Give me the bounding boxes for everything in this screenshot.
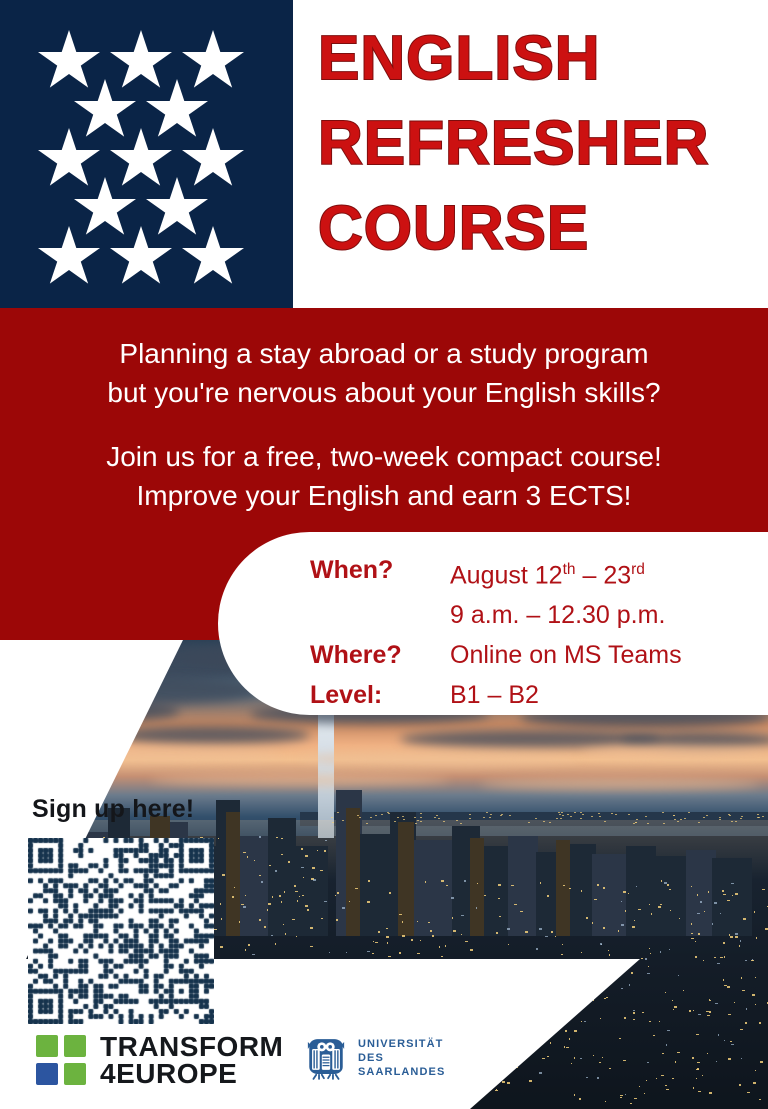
window-light: [604, 998, 606, 999]
owl-icon: [305, 1035, 347, 1081]
flag-star: [182, 226, 244, 288]
shore-light: [443, 821, 445, 822]
window-light: [717, 963, 720, 964]
window-light: [608, 950, 609, 951]
shore-light: [394, 821, 396, 822]
window-light: [723, 942, 725, 944]
saarland-university-logo: UNIVERSITÄT DES SAARLANDES: [305, 1035, 445, 1081]
window-light: [464, 880, 466, 882]
window-light: [670, 910, 671, 911]
window-light: [634, 920, 635, 921]
shore-light: [414, 817, 416, 818]
window-light: [697, 894, 698, 896]
window-light: [698, 1014, 701, 1015]
shore-light: [331, 817, 333, 818]
window-light: [269, 865, 271, 866]
shore-light: [647, 823, 649, 824]
saarland-line-1: UNIVERSITÄT: [358, 1037, 445, 1051]
window-light: [378, 931, 380, 933]
banner-line-2: but you're nervous about your English sk…: [0, 373, 768, 412]
window-light: [484, 895, 486, 896]
shore-light: [706, 815, 708, 816]
flag-star: [38, 226, 100, 288]
window-light: [735, 893, 738, 895]
window-light: [632, 926, 635, 928]
window-light: [476, 907, 477, 909]
signup-heading: Sign up here!: [32, 795, 214, 824]
window-light: [698, 933, 700, 935]
window-light: [609, 954, 610, 956]
window-light: [514, 904, 517, 905]
shore-light: [381, 814, 383, 815]
window-light: [665, 992, 666, 993]
window-light: [254, 860, 255, 861]
window-light: [645, 958, 647, 960]
window-light: [285, 933, 286, 935]
window-light: [649, 904, 650, 905]
shore-light: [509, 815, 511, 816]
window-light: [281, 838, 283, 839]
window-light: [425, 881, 426, 883]
cloud-light: [300, 752, 580, 766]
window-light: [722, 890, 724, 892]
window-light: [220, 903, 221, 905]
shore-light: [420, 813, 422, 814]
window-light: [661, 880, 662, 882]
window-light: [499, 916, 501, 917]
shore-light: [560, 818, 562, 819]
poster-title: ENGLISH REFRESHER COURSE: [318, 16, 758, 271]
window-light: [402, 921, 403, 923]
window-light: [563, 885, 565, 886]
flag-star: [38, 30, 100, 92]
window-light: [691, 886, 692, 887]
window-light: [741, 977, 742, 979]
shore-light: [375, 815, 377, 816]
window-light: [562, 944, 563, 945]
window-light: [569, 888, 571, 889]
shore-light: [645, 816, 647, 817]
logo-square-blue: [36, 1063, 58, 1085]
window-light: [720, 913, 721, 914]
window-light: [669, 889, 671, 890]
shore-light: [469, 818, 471, 819]
window-light: [536, 948, 538, 950]
window-light: [709, 1011, 711, 1013]
window-light: [754, 911, 755, 913]
window-light: [669, 949, 670, 950]
shore-light: [543, 821, 545, 822]
window-light: [451, 897, 454, 899]
shore-light: [719, 819, 721, 820]
shore-light: [703, 817, 705, 818]
window-light: [724, 956, 725, 958]
window-light: [664, 882, 667, 884]
window-light: [700, 901, 702, 903]
building: [236, 836, 270, 936]
window-light: [525, 931, 528, 933]
window-light: [672, 1000, 673, 1001]
window-light: [368, 880, 370, 882]
when-date-prefix: August 12: [450, 561, 563, 589]
window-light: [221, 918, 222, 920]
window-light: [555, 936, 556, 937]
window-light: [742, 990, 745, 991]
window-light: [594, 899, 597, 900]
shore-light: [680, 819, 682, 820]
window-light: [239, 921, 240, 923]
window-light: [678, 975, 679, 976]
window-light: [667, 884, 669, 886]
shore-light: [684, 818, 686, 819]
window-light: [704, 911, 705, 912]
shore-light: [561, 812, 563, 813]
shore-light: [337, 812, 339, 813]
window-light: [271, 935, 273, 936]
shore-light: [677, 821, 679, 822]
building: [652, 856, 686, 936]
logo-square-green-1: [36, 1035, 58, 1057]
shore-light: [719, 817, 721, 818]
shore-light: [567, 814, 569, 815]
window-light: [465, 941, 468, 942]
window-light: [745, 960, 747, 961]
window-light: [629, 984, 630, 986]
window-light: [707, 1015, 710, 1016]
window-light: [561, 954, 563, 955]
window-light: [299, 896, 300, 897]
window-light: [545, 936, 548, 937]
window-light: [420, 940, 421, 941]
shore-light: [397, 817, 399, 818]
flag-star: [182, 30, 244, 92]
window-light: [307, 909, 309, 911]
window-light: [660, 904, 662, 905]
window-light: [636, 886, 637, 887]
shore-light: [460, 823, 462, 824]
shore-light: [757, 814, 759, 815]
window-light: [715, 1003, 718, 1004]
window-light: [641, 958, 643, 959]
window-light: [337, 892, 339, 894]
shore-light: [615, 814, 617, 815]
shore-light: [741, 816, 743, 817]
shore-light: [549, 822, 551, 823]
window-light: [367, 901, 370, 903]
window-light: [367, 951, 370, 952]
banner-text-block: Planning a stay abroad or a study progra…: [0, 334, 768, 515]
window-light: [498, 884, 501, 886]
window-light: [520, 911, 523, 912]
title-line-1: ENGLISH: [318, 16, 758, 101]
flag-star: [110, 30, 172, 92]
shore-light: [599, 816, 601, 817]
qr-code-canvas[interactable]: [28, 838, 214, 1024]
window-light: [631, 972, 633, 974]
saarland-line-3: SAARLANDES: [358, 1065, 445, 1079]
window-light: [628, 893, 629, 894]
when-date-sup-1: th: [563, 561, 576, 578]
window-light: [600, 943, 602, 945]
window-light: [714, 902, 717, 904]
window-light: [746, 1008, 747, 1010]
window-light: [281, 901, 282, 903]
window-light: [232, 896, 234, 898]
window-light: [709, 999, 710, 1001]
window-light: [618, 930, 619, 932]
window-light: [375, 942, 378, 943]
flag-star: [110, 226, 172, 288]
flag-star: [146, 79, 208, 141]
signup-block: Sign up here!: [28, 795, 214, 1024]
window-light: [279, 895, 281, 897]
window-light: [439, 946, 440, 948]
window-light: [275, 943, 276, 945]
cloud-light: [150, 774, 450, 786]
window-light: [399, 914, 402, 915]
window-light: [735, 936, 738, 938]
window-light: [301, 867, 304, 868]
shore-light: [489, 817, 491, 818]
window-light: [496, 932, 498, 934]
window-light: [411, 939, 413, 941]
shore-light: [483, 817, 485, 818]
shore-light: [570, 816, 572, 817]
window-light: [603, 887, 605, 889]
when-date-mid: – 23: [576, 561, 632, 589]
shore-light: [403, 819, 405, 820]
window-light: [296, 936, 297, 937]
shore-light: [562, 815, 564, 816]
spacer-cell: [310, 595, 450, 635]
window-light: [301, 848, 303, 850]
shore-light: [628, 814, 630, 815]
window-light: [691, 933, 693, 934]
window-light: [329, 952, 330, 953]
shore-light: [635, 822, 637, 823]
window-light: [320, 870, 323, 871]
shore-light: [688, 812, 690, 813]
shore-light: [370, 817, 372, 818]
window-light: [324, 850, 326, 852]
window-light: [606, 997, 608, 998]
flag-star: [146, 177, 208, 239]
window-light: [710, 1000, 711, 1001]
lit-tower: [556, 840, 570, 936]
window-light: [683, 990, 684, 991]
window-light: [388, 956, 391, 957]
flag-star: [38, 128, 100, 190]
window-light: [276, 837, 278, 838]
flag-star: [110, 128, 172, 190]
transform4europe-wordmark: TRANSFORM 4EUROPE: [100, 1033, 283, 1087]
shore-light: [558, 812, 560, 813]
banner-spacer: [0, 412, 768, 437]
transform4europe-line-1: TRANSFORM: [100, 1033, 283, 1060]
banner-line-4: Improve your English and earn 3 ECTS!: [0, 476, 768, 515]
window-light: [288, 861, 290, 863]
saarland-wordmark: UNIVERSITÄT DES SAARLANDES: [358, 1037, 445, 1079]
window-light: [592, 922, 593, 924]
window-light: [245, 949, 246, 951]
window-light: [252, 954, 255, 955]
window-light: [261, 881, 263, 883]
shore-light: [490, 814, 492, 815]
window-light: [755, 1004, 756, 1005]
window-light: [305, 855, 308, 857]
shore-light: [434, 817, 436, 818]
window-light: [539, 928, 542, 930]
window-light: [305, 905, 308, 907]
lit-tower: [398, 822, 414, 936]
window-light: [241, 904, 244, 905]
window-light: [373, 941, 374, 942]
window-light: [621, 988, 623, 989]
shore-light: [357, 815, 359, 816]
shore-light: [674, 819, 676, 820]
window-light: [310, 927, 313, 929]
flag-star: [182, 128, 244, 190]
window-light: [346, 952, 347, 953]
window-light: [461, 915, 464, 916]
us-flag-star-field: [0, 0, 293, 308]
window-light: [720, 957, 723, 958]
window-light: [727, 986, 730, 988]
shore-light: [366, 823, 368, 824]
window-light: [732, 895, 733, 896]
logo-bar: TRANSFORM 4EUROPE: [0, 1019, 768, 1109]
shore-light: [574, 812, 576, 813]
shore-light: [415, 823, 417, 824]
window-light: [638, 909, 641, 910]
window-light: [708, 891, 709, 893]
shore-light: [438, 818, 440, 819]
window-light: [755, 977, 756, 978]
transform4europe-line-2: 4EUROPE: [100, 1060, 283, 1087]
window-light: [441, 880, 444, 882]
when-date-sup-2: rd: [631, 561, 645, 578]
window-light: [259, 919, 261, 921]
flag-star: [74, 79, 136, 141]
shore-light: [740, 818, 742, 819]
window-light: [621, 901, 622, 902]
window-light: [650, 953, 651, 954]
poster-header: ENGLISH REFRESHER COURSE: [0, 0, 768, 308]
where-label: Where?: [310, 635, 450, 675]
window-light: [312, 867, 315, 869]
window-light: [674, 1006, 677, 1008]
window-light: [647, 973, 650, 974]
shore-light: [580, 812, 582, 813]
window-light: [284, 891, 285, 893]
window-light: [399, 952, 401, 954]
window-light: [740, 940, 741, 942]
window-light: [712, 923, 713, 925]
building: [712, 858, 752, 936]
shore-light: [757, 817, 759, 818]
shore-light: [762, 816, 764, 817]
window-light: [264, 926, 266, 928]
shore-light: [636, 819, 638, 820]
window-light: [735, 933, 738, 935]
window-light: [453, 930, 456, 932]
window-light: [389, 892, 391, 894]
saarland-line-2: DES: [358, 1051, 445, 1065]
shore-light: [580, 818, 582, 819]
building: [412, 840, 452, 936]
window-light: [691, 938, 694, 939]
window-light: [751, 960, 754, 961]
window-light: [432, 935, 434, 937]
transform4europe-mark: [36, 1035, 86, 1085]
qr-code[interactable]: [28, 838, 214, 1024]
when-value-time: 9 a.m. – 12.30 p.m.: [450, 595, 682, 635]
level-label: Level:: [310, 675, 450, 715]
window-light: [325, 840, 327, 841]
window-light: [714, 957, 716, 958]
window-light: [234, 887, 235, 888]
window-light: [243, 852, 246, 853]
window-light: [342, 907, 345, 909]
window-light: [739, 945, 740, 947]
window-light: [477, 883, 478, 884]
window-light: [295, 891, 298, 892]
window-light: [695, 956, 697, 958]
window-light: [275, 870, 277, 872]
window-light: [723, 894, 726, 895]
window-light: [658, 906, 661, 908]
shore-light: [559, 814, 561, 815]
cloud-light: [580, 746, 768, 760]
window-light: [621, 924, 624, 926]
window-light: [402, 935, 405, 937]
window-light: [586, 917, 588, 919]
window-light: [633, 1012, 635, 1014]
shore-light: [662, 812, 664, 813]
window-light: [387, 942, 388, 944]
window-light: [313, 879, 316, 881]
shore-light: [591, 816, 593, 817]
window-light: [649, 948, 650, 949]
window-light: [417, 921, 418, 922]
shore-light: [456, 820, 458, 821]
window-light: [247, 856, 248, 858]
flag-star: [74, 177, 136, 239]
shore-light: [611, 813, 613, 814]
lit-tower: [470, 838, 484, 936]
window-light: [603, 927, 605, 929]
window-light: [470, 949, 473, 951]
window-light: [292, 919, 295, 920]
shore-light: [663, 823, 665, 824]
shore-light: [359, 817, 361, 818]
window-light: [723, 979, 724, 981]
shore-light: [582, 814, 584, 815]
window-light: [355, 888, 358, 889]
banner-line-3: Join us for a free, two-week compact cou…: [0, 437, 768, 476]
window-light: [597, 884, 599, 886]
window-light: [642, 1012, 644, 1013]
building: [358, 834, 392, 936]
window-light: [651, 913, 652, 915]
shore-light: [556, 818, 558, 819]
cloud-light: [480, 778, 760, 790]
when-value-date: August 12th – 23rd: [450, 550, 682, 595]
window-light: [259, 875, 261, 876]
shore-light: [469, 814, 471, 815]
window-light: [245, 895, 246, 896]
window-light: [498, 898, 500, 899]
